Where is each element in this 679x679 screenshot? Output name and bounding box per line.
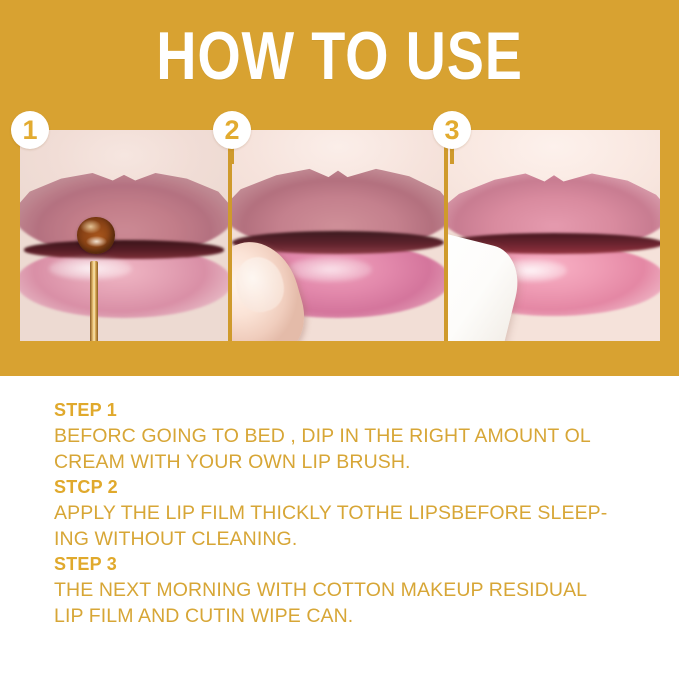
step-image-panel-2 xyxy=(232,130,444,341)
instructions-list: STEP 1 BEFORC GOING TO BED , DIP IN THE … xyxy=(54,398,654,629)
step-body-3: THE NEXT MORNING WITH COTTON MAKEUP RESI… xyxy=(54,577,654,629)
step-body-2: APPLY THE LIP FILM THICKLY TOTHE LIPSBEF… xyxy=(54,500,654,552)
step-body-line: ING WITHOUT CLEANING. xyxy=(54,526,654,552)
step-heading-2: STCP 2 xyxy=(54,475,654,500)
applicator-bead-icon xyxy=(77,217,115,254)
step-image-strip xyxy=(20,130,660,341)
step-heading-1: STEP 1 xyxy=(54,398,654,423)
step-block-2: STCP 2 APPLY THE LIP FILM THICKLY TOTHE … xyxy=(54,475,654,552)
step-body-line: LIP FILM AND CUTIN WIPE CAN. xyxy=(54,603,654,629)
lips-artwork xyxy=(20,130,228,341)
step-heading-3: STEP 3 xyxy=(54,552,654,577)
step-body-line: BEFORC GOING TO BED , DIP IN THE RIGHT A… xyxy=(54,423,654,449)
step-badge-1: 1 xyxy=(11,111,49,149)
step-block-3: STEP 3 THE NEXT MORNING WITH COTTON MAKE… xyxy=(54,552,654,629)
step-badge-3: 3 xyxy=(433,111,471,149)
step-body-line: APPLY THE LIP FILM THICKLY TOTHE LIPSBEF… xyxy=(54,500,654,526)
step-block-1: STEP 1 BEFORC GOING TO BED , DIP IN THE … xyxy=(54,398,654,475)
page-title: HOW TO USE xyxy=(61,22,618,90)
step-body-line: CREAM WITH YOUR OWN LIP BRUSH. xyxy=(54,449,654,475)
mouth-line-shape xyxy=(24,240,224,259)
applicator-handle-icon xyxy=(90,261,98,341)
step-body-1: BEFORC GOING TO BED , DIP IN THE RIGHT A… xyxy=(54,423,654,475)
lip-gloss-highlight xyxy=(287,257,372,282)
step-badge-2: 2 xyxy=(213,111,251,149)
step-body-line: THE NEXT MORNING WITH COTTON MAKEUP RESI… xyxy=(54,577,654,603)
hero-band: HOW TO USE xyxy=(0,0,679,376)
step-image-panel-3 xyxy=(448,130,660,341)
step-image-panel-1 xyxy=(20,130,228,341)
